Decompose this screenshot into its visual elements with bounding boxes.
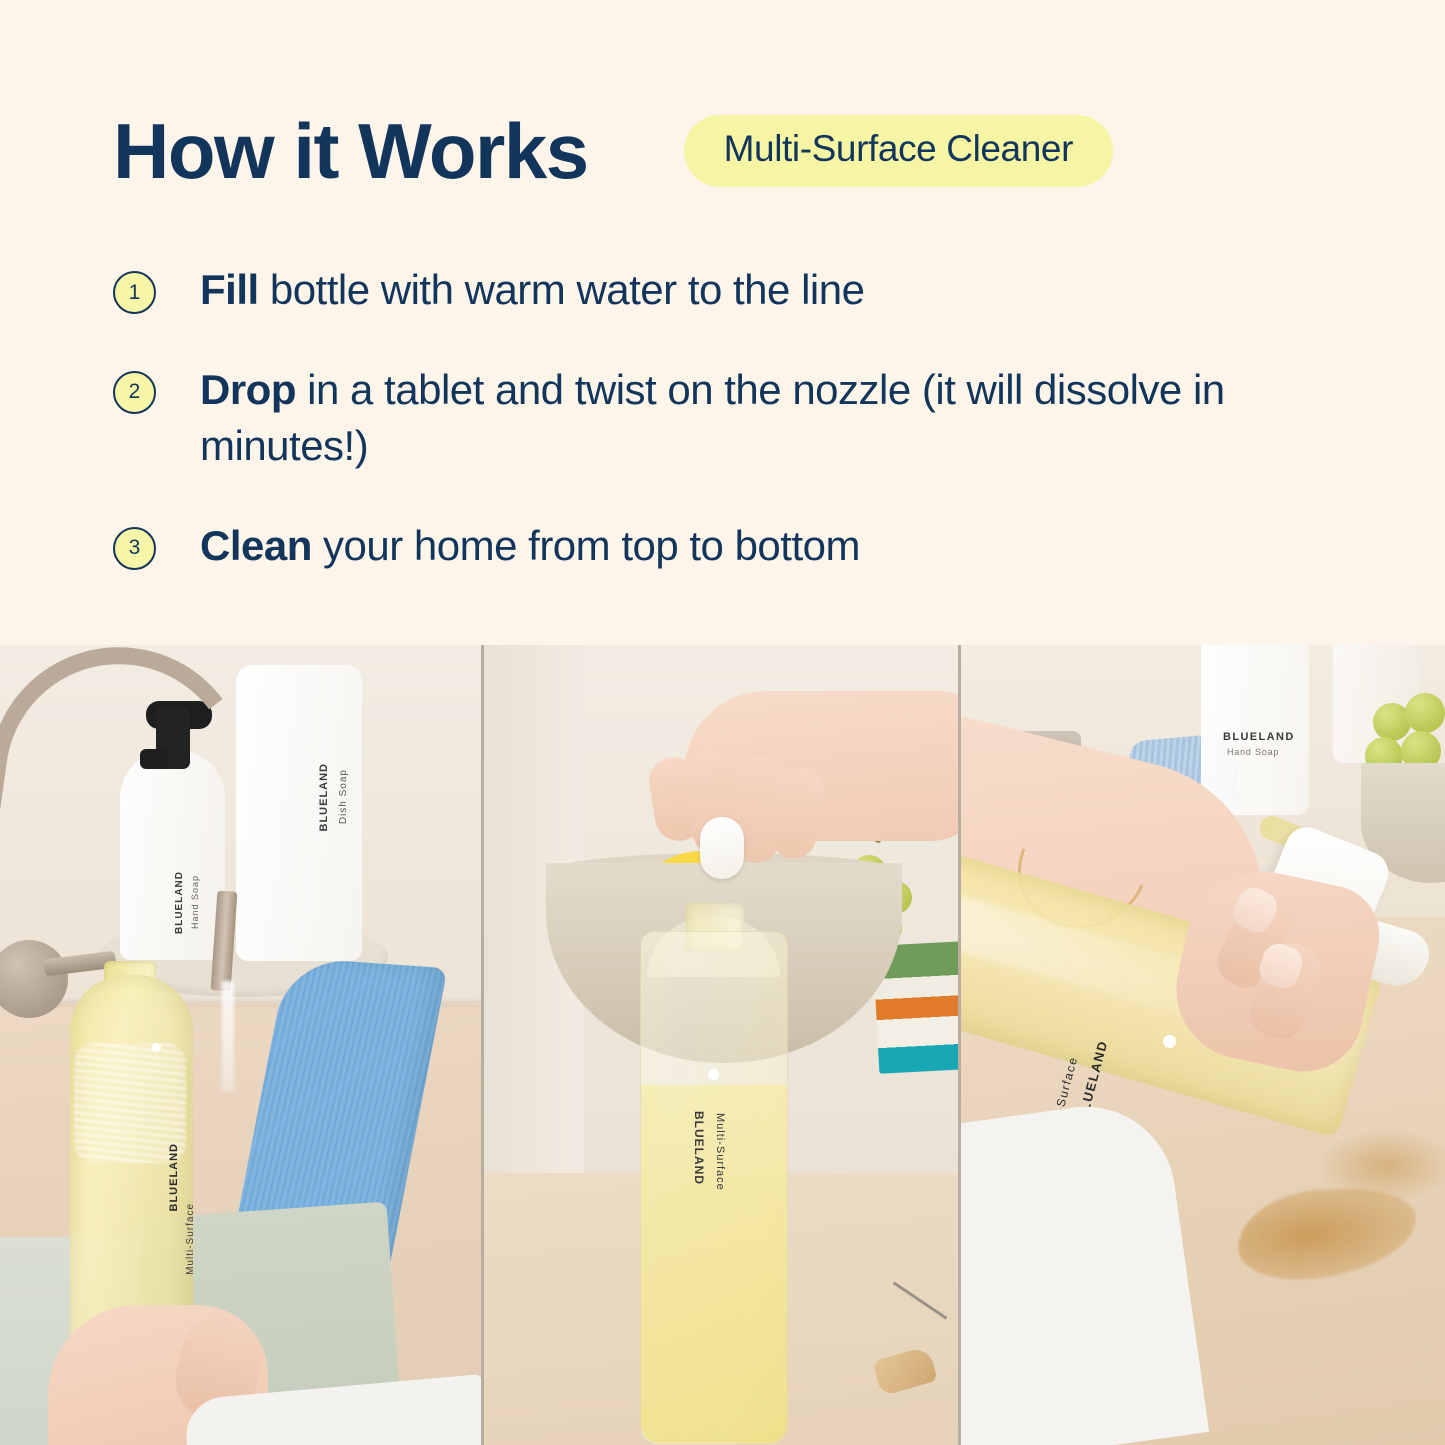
- bottle-brand-label: BLUELAND: [168, 1143, 180, 1212]
- fill-line-dot: [708, 1069, 719, 1080]
- step-keyword-3: Clean: [200, 522, 312, 569]
- water-stream: [222, 981, 234, 1091]
- cleaning-tablet: [700, 817, 744, 879]
- step-keyword-1: Fill: [200, 266, 259, 313]
- step-detail-1: bottle with warm water to the line: [259, 266, 865, 313]
- fill-line-dot: [152, 1043, 161, 1052]
- steps-list: 1 Fill bottle with warm water to the lin…: [113, 262, 1363, 573]
- dish-soap-brand-label: BLUELAND: [318, 763, 330, 832]
- how-it-works-infographic: How it Works Multi-Surface Cleaner 1 Fil…: [0, 0, 1445, 1445]
- photo-strip: BLUELAND Hand Soap BLUELAND Dish Soap BL…: [0, 645, 1445, 1445]
- step-text-2: Drop in a tablet and twist on the nozzle…: [200, 362, 1363, 474]
- step-number-badge-2: 2: [113, 371, 156, 414]
- step-number-badge-1: 1: [113, 271, 156, 314]
- step-number-badge-3: 3: [113, 527, 156, 570]
- grape: [1405, 693, 1445, 733]
- bottle-brand-label: BLUELAND: [692, 1111, 706, 1185]
- fill-line-dot: [1163, 1035, 1176, 1048]
- hand-soap-brand-label: BLUELAND: [1223, 731, 1295, 743]
- photo-panel-fill: BLUELAND Hand Soap BLUELAND Dish Soap BL…: [0, 645, 481, 1445]
- step-text-1: Fill bottle with warm water to the line: [200, 262, 864, 318]
- photo-panel-drop: BLUELAND Multi-Surface: [484, 645, 958, 1445]
- step-detail-3: your home from top to bottom: [312, 522, 860, 569]
- bottle-name-label: Multi-Surface: [714, 1113, 726, 1191]
- step-item-1: 1 Fill bottle with warm water to the lin…: [113, 262, 1363, 318]
- step-text-3: Clean your home from top to bottom: [200, 518, 860, 574]
- header-section: How it Works Multi-Surface Cleaner 1 Fil…: [0, 0, 1445, 645]
- photo-panel-twist: BLUELAND Hand Soap BLUELAND Multi-Surfac…: [961, 645, 1445, 1445]
- dish-soap-name-label: Dish Soap: [338, 769, 349, 824]
- product-badge: Multi-Surface Cleaner: [684, 115, 1113, 187]
- title-row: How it Works Multi-Surface Cleaner: [113, 112, 1113, 190]
- hand-soap-bottle: [1201, 645, 1309, 815]
- step-detail-2: in a tablet and twist on the nozzle (it …: [200, 366, 1225, 469]
- page-title: How it Works: [113, 112, 588, 190]
- bottle-name-label: Multi-Surface: [185, 1203, 196, 1275]
- step-item-3: 3 Clean your home from top to bottom: [113, 518, 1363, 574]
- step-item-2: 2 Drop in a tablet and twist on the nozz…: [113, 362, 1363, 474]
- hand-soap-name-label: Hand Soap: [1227, 747, 1279, 757]
- step-keyword-2: Drop: [200, 366, 296, 413]
